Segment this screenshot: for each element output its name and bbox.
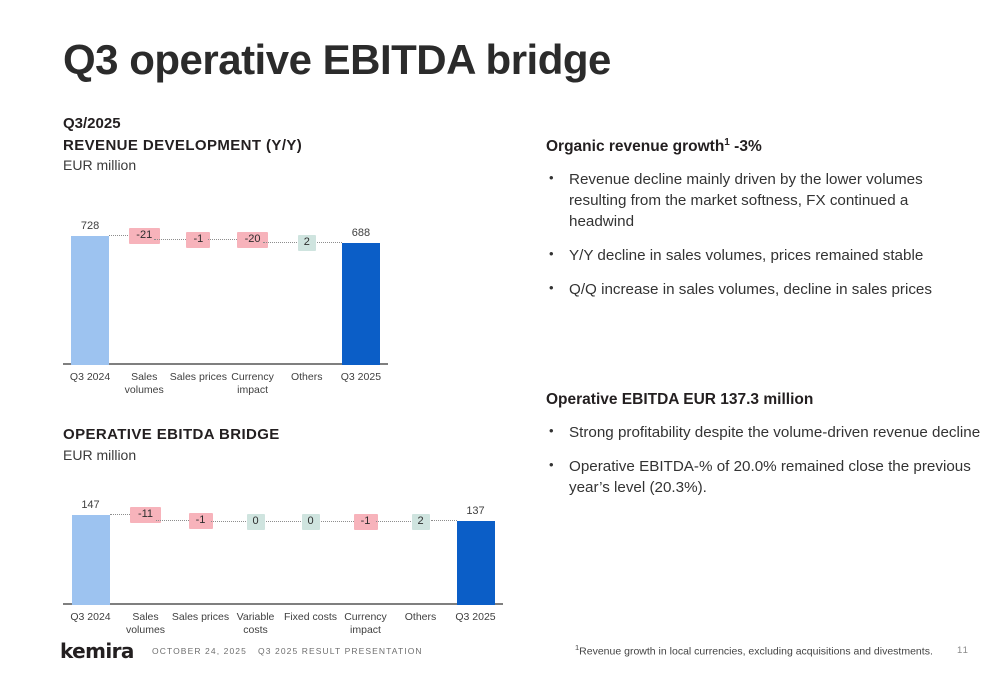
waterfall-connector <box>431 520 457 521</box>
period-kicker: Q3/2025 <box>63 115 523 134</box>
chart2-unit: EUR million <box>63 446 523 465</box>
operative-ebitda-bullet-list: Strong profitability despite the volume-… <box>546 423 986 499</box>
bar-opening-total <box>71 236 109 365</box>
axis-tick-label: Q3 2025 <box>331 371 391 384</box>
footnote: 1Revenue growth in local currencies, exc… <box>575 643 933 658</box>
bar-closing-total <box>342 243 380 365</box>
waterfall-connector <box>211 521 246 522</box>
axis-tick-label: Q3 2024 <box>60 611 121 624</box>
delta-badge: -1 <box>354 514 378 530</box>
bullet-item: Revenue decline mainly driven by the low… <box>546 170 976 233</box>
axis-tick-label: Sales prices <box>170 611 231 624</box>
operative-ebitda-bridge-chart: 147-11-100-12137 Q3 2024Sales volumesSal… <box>63 483 523 639</box>
waterfall-connector <box>321 521 356 522</box>
delta-badge: 0 <box>302 514 320 530</box>
axis-tick-label: Sales volumes <box>114 371 174 397</box>
delta-badge: -1 <box>189 513 213 529</box>
axis-tick-label: Currency impact <box>223 371 283 397</box>
bullet-item: Strong profitability despite the volume-… <box>546 423 986 444</box>
delta-badge: 2 <box>412 514 430 530</box>
waterfall-connector <box>317 242 342 243</box>
page-number: 11 <box>957 645 969 656</box>
chart1-heading: REVENUE DEVELOPMENT (Y/Y) <box>63 136 523 156</box>
bar-closing-total <box>457 521 495 605</box>
chart2-heading: OPERATIVE EBITDA BRIDGE <box>63 425 523 445</box>
waterfall-connector <box>263 242 297 243</box>
organic-revenue-bullet-list: Revenue decline mainly driven by the low… <box>546 170 976 301</box>
kemira-logo: kemira <box>60 639 134 663</box>
axis-tick-label: Variable costs <box>225 611 286 637</box>
axis-tick-label: Others <box>277 371 337 384</box>
axis-tick-label: Currency impact <box>335 611 396 637</box>
waterfall-connector <box>376 521 411 522</box>
axis-tick-label: Fixed costs <box>280 611 341 624</box>
waterfall-connector <box>266 521 301 522</box>
axis-tick-label: Q3 2025 <box>445 611 506 624</box>
organic-revenue-growth-value: -3% <box>730 138 762 155</box>
bullet-item: Operative EBITDA-% of 20.0% remained clo… <box>546 457 986 499</box>
organic-revenue-growth-heading: Organic revenue growth1 -3% <box>546 136 976 157</box>
axis-tick-label: Sales volumes <box>115 611 176 637</box>
left-column: Q3/2025 REVENUE DEVELOPMENT (Y/Y) EUR mi… <box>63 115 523 639</box>
delta-badge: 2 <box>298 235 316 251</box>
page-title: Q3 operative EBITDA bridge <box>63 38 611 82</box>
bar-total-label: 137 <box>446 505 506 517</box>
right-column-block-1: Organic revenue growth1 -3% Revenue decl… <box>546 136 976 301</box>
right-column-block-2: Operative EBITDA EUR 137.3 million Stron… <box>546 390 986 499</box>
bullet-item: Y/Y decline in sales volumes, prices rem… <box>546 246 976 267</box>
bullet-item: Q/Q increase in sales volumes, decline i… <box>546 280 976 301</box>
delta-badge: -20 <box>237 232 268 248</box>
bar-total-label: 728 <box>60 220 120 232</box>
revenue-development-chart: 728-21-1-202688 Q3 2024Sales volumesSale… <box>63 193 523 399</box>
axis-tick-label: Others <box>390 611 451 624</box>
organic-revenue-growth-heading-text: Organic revenue growth <box>546 138 724 155</box>
bar-total-label: 147 <box>61 499 121 511</box>
footer-deck-name: Q3 2025 RESULT PRESENTATION <box>258 646 423 656</box>
slide-root: Q3 operative EBITDA bridge Q3/2025 REVEN… <box>0 0 1000 685</box>
delta-badge: -21 <box>129 228 160 244</box>
footnote-text: Revenue growth in local currencies, excl… <box>579 646 933 658</box>
waterfall-connector <box>156 520 191 521</box>
chart1-unit: EUR million <box>63 156 523 175</box>
delta-badge: 0 <box>247 514 265 530</box>
waterfall-connector <box>154 239 188 240</box>
operative-ebitda-heading: Operative EBITDA EUR 137.3 million <box>546 390 986 410</box>
bar-total-label: 688 <box>331 227 391 239</box>
axis-tick-label: Q3 2024 <box>60 371 120 384</box>
delta-badge: -1 <box>186 232 210 248</box>
axis-tick-label: Sales prices <box>168 371 228 384</box>
bar-opening-total <box>72 515 110 605</box>
footer-date: OCTOBER 24, 2025 <box>152 646 247 656</box>
